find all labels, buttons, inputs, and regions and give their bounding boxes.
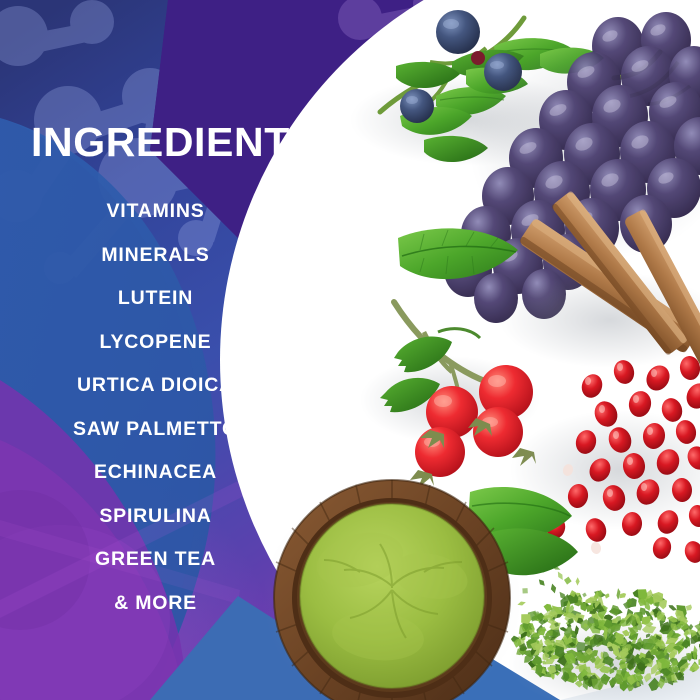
dried-green-tea-leaves (508, 558, 700, 700)
produce-imagery (0, 0, 700, 700)
ingredients-banner: INGREDIENTS VITAMINS MINERALS LUTEIN LYC… (0, 0, 700, 700)
